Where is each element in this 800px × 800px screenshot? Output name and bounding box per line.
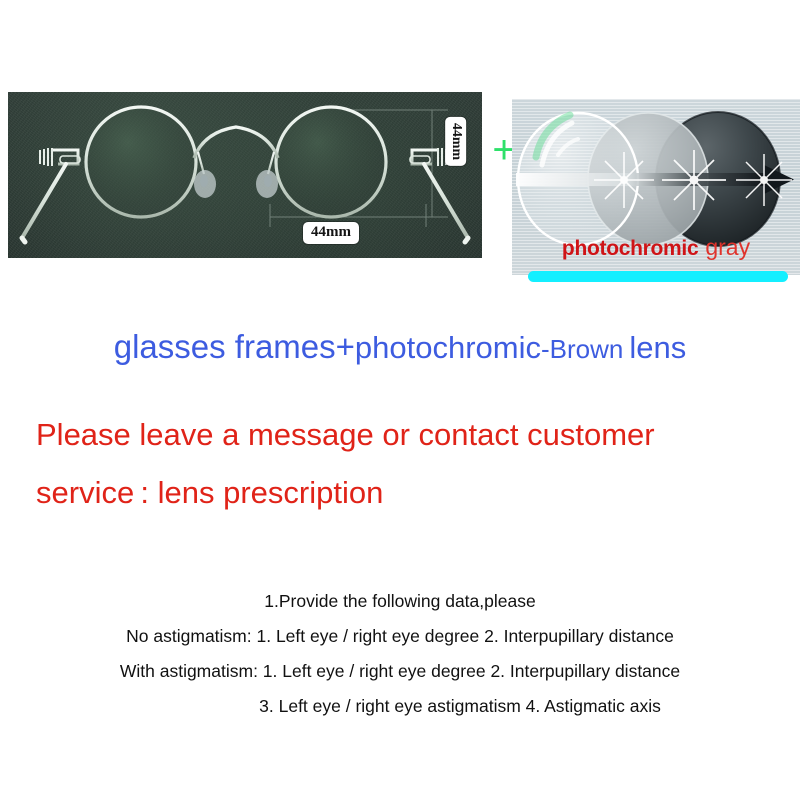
notice-line-1: Please leave a message or contact custom…: [36, 406, 776, 464]
headline-segment-frames: glasses frames+: [114, 328, 355, 365]
photochromic-lens-photo[interactable]: photochromicgray: [512, 99, 800, 275]
notice-line-2: service : lens prescription: [36, 464, 776, 522]
eyeglass-frame-photo[interactable]: [8, 92, 482, 258]
accent-bar: [528, 271, 788, 282]
headline-segment-photochromic: photochromic: [355, 330, 541, 365]
headline-segment-lens: lens: [629, 330, 686, 365]
lens-height-measurement-badge: 44mm: [445, 117, 466, 166]
instruction-line-4: 3. Left eye / right eye astigmatism 4. A…: [0, 689, 800, 724]
instruction-line-2: No astigmatism: 1. Left eye / right eye …: [0, 619, 800, 654]
prescription-instructions: 1.Provide the following data,please No a…: [0, 584, 800, 724]
instruction-line-3: With astigmatism: 1. Left eye / right ey…: [0, 654, 800, 689]
frame-illustration: [8, 92, 482, 258]
lens-caption-primary: photochromic: [562, 237, 698, 260]
lens-caption-secondary: gray: [705, 234, 750, 260]
lens-width-measurement-badge: 44mm: [303, 222, 359, 244]
lens-caption: photochromicgray: [512, 234, 800, 261]
customer-service-notice: Please leave a message or contact custom…: [36, 406, 776, 522]
instruction-line-1: 1.Provide the following data,please: [0, 584, 800, 619]
headline-segment-brown: -Brown: [541, 334, 623, 364]
product-media-row: 44mm 44mm +: [0, 0, 800, 300]
product-headline: glasses frames+photochromic-Brownlens: [0, 328, 800, 366]
